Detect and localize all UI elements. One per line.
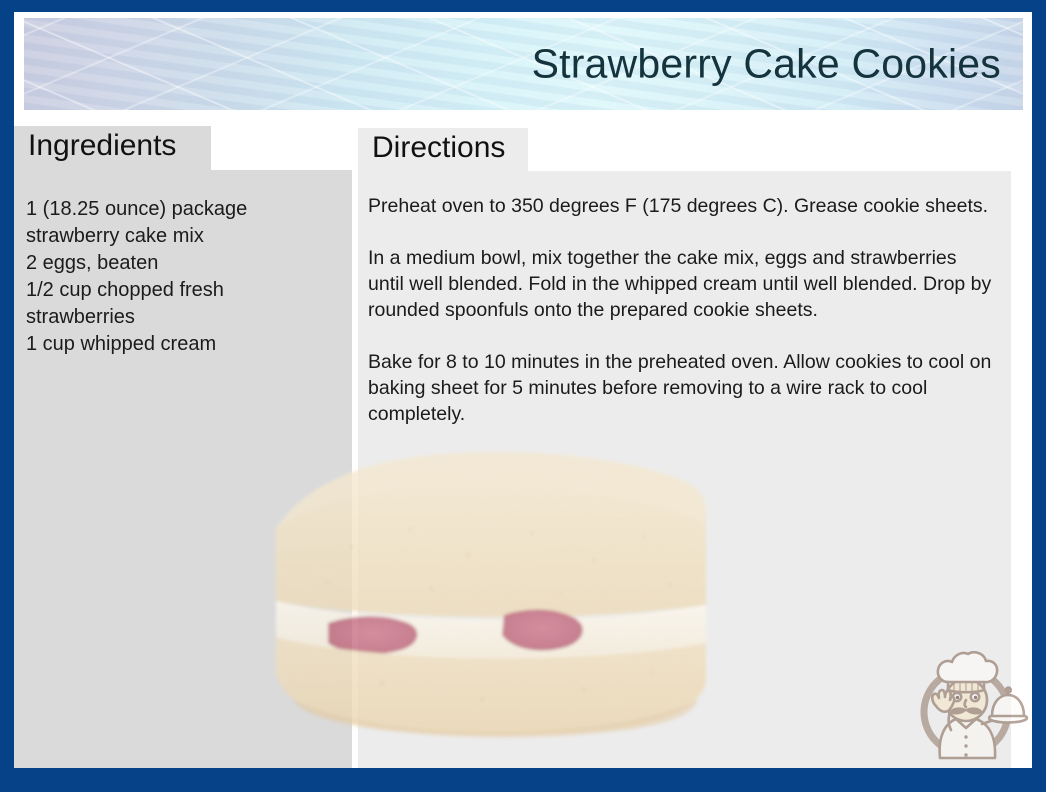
direction-step: In a medium bowl, mix together the cake … bbox=[368, 245, 997, 323]
list-item: 2 eggs, beaten bbox=[26, 250, 342, 277]
header-banner: Strawberry Cake Cookies bbox=[24, 18, 1023, 110]
recipe-card-page: Strawberry Cake Cookies Ingredients 1 (1… bbox=[0, 0, 1046, 792]
ingredients-panel: 1 (18.25 ounce) package strawberry cake … bbox=[14, 170, 352, 768]
section-tab-directions: Directions bbox=[358, 128, 528, 171]
list-item: strawberries bbox=[26, 304, 342, 331]
list-item: 1 (18.25 ounce) package bbox=[26, 196, 342, 223]
list-item: strawberry cake mix bbox=[26, 223, 342, 250]
ingredients-list: 1 (18.25 ounce) package strawberry cake … bbox=[26, 196, 342, 358]
direction-step: Preheat oven to 350 degrees F (175 degre… bbox=[368, 193, 997, 219]
direction-step: Bake for 8 to 10 minutes in the preheate… bbox=[368, 349, 997, 427]
directions-steps: Preheat oven to 350 degrees F (175 degre… bbox=[368, 193, 997, 427]
section-tab-ingredients: Ingredients bbox=[14, 126, 211, 170]
list-item: 1/2 cup chopped fresh bbox=[26, 277, 342, 304]
page-title: Strawberry Cake Cookies bbox=[532, 41, 1001, 88]
directions-panel: Preheat oven to 350 degrees F (175 degre… bbox=[358, 171, 1011, 768]
list-item: 1 cup whipped cream bbox=[26, 331, 342, 358]
